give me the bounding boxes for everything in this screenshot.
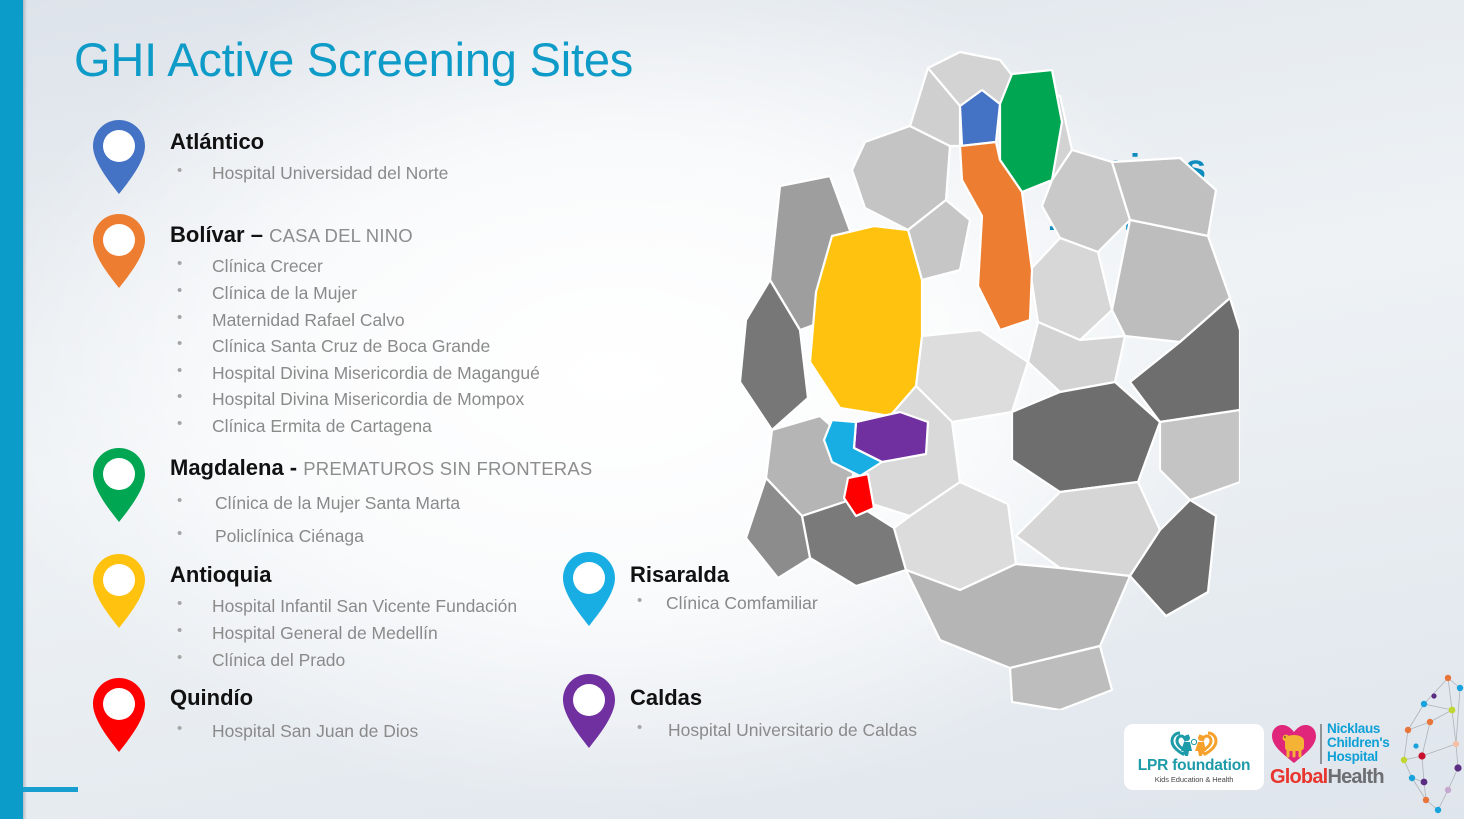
site-name: Hospital Divina Misericordia de Mompox (212, 389, 524, 409)
list-item: •Clínica de la Mujer Santa Marta (170, 490, 592, 517)
bottom-accent-line (23, 787, 78, 792)
page-title: GHI Active Screening Sites (74, 32, 633, 87)
site-name: Hospital General de Medellín (212, 623, 438, 643)
region-title-bolivar: Bolívar – CASA DEL NINO (170, 222, 540, 248)
list-item: •Clínica Comfamiliar (630, 590, 818, 617)
site-name: Hospital San Juan de Dios (212, 721, 418, 741)
region-title-caldas: Caldas (630, 685, 917, 711)
map-dept-arauca (1112, 158, 1216, 236)
region-title-risaralda: Risaralda (630, 562, 818, 588)
map-pin-icon-risaralda (558, 550, 620, 628)
list-item: •Clínica Santa Cruz de Boca Grande (170, 333, 540, 360)
map-dept-guainia (1160, 410, 1240, 500)
site-name: Clínica del Prado (212, 650, 345, 670)
list-item: •Clínica Ermita de Cartagena (170, 413, 540, 440)
site-name: Hospital Infantil San Vicente Fundación (212, 596, 517, 616)
bullet-icon: • (177, 620, 182, 643)
bullet-icon: • (177, 386, 182, 409)
map-pin-icon-bolivar (88, 212, 150, 290)
list-item: •Hospital Divina Misericordia de Magangu… (170, 360, 540, 387)
site-list-atlantico: •Hospital Universidad del Norte (170, 160, 448, 187)
site-name: Hospital Universitario de Caldas (668, 720, 917, 740)
list-item: •Hospital San Juan de Dios (170, 718, 418, 745)
list-item: •Hospital Divina Misericordia de Mompox (170, 386, 540, 413)
nch-line2: Children's (1327, 736, 1389, 750)
map-pin-icon-caldas (558, 672, 620, 750)
list-item: •Hospital General de Medellín (170, 620, 517, 647)
region-subtitle: CASA DEL NINO (269, 225, 413, 246)
bullet-icon: • (177, 160, 182, 183)
bullet-icon: • (177, 718, 182, 741)
region-title-atlantico: Atlántico (170, 129, 448, 155)
bullet-icon: • (177, 647, 182, 670)
logo-lpr-foundation: LPR foundation Kids Education & Health (1124, 724, 1264, 790)
bullet-icon: • (177, 523, 182, 546)
bullet-icon: • (177, 307, 182, 330)
map-highlight-antioquia (810, 226, 922, 416)
map-pin-icon-antioquia (88, 552, 150, 630)
network-graphic-svg (1382, 660, 1464, 819)
region-title-quindio: Quindío (170, 685, 418, 711)
list-item: •Hospital Infantil San Vicente Fundación (170, 593, 517, 620)
nch-line3: Hospital (1327, 750, 1389, 764)
bullet-icon: • (177, 413, 182, 436)
bullet-icon: • (177, 253, 182, 276)
bullet-icon: • (637, 590, 642, 613)
site-list-antioquia: •Hospital Infantil San Vicente Fundación… (170, 593, 517, 673)
nch-health-text: Health (1327, 766, 1383, 788)
site-name: Clínica Ermita de Cartagena (212, 416, 432, 436)
list-item: •Clínica de la Mujer (170, 280, 540, 307)
left-accent-bar-shadow (23, 0, 27, 819)
site-name: Hospital Divina Misericordia de Magangué (212, 363, 540, 383)
nch-divider (1320, 724, 1322, 764)
region-name: Caldas (630, 685, 702, 710)
map-pin-icon-atlantico (88, 118, 150, 196)
region-subtitle: PREMATUROS SIN FRONTERAS (303, 458, 592, 479)
list-item: •Maternidad Rafael Calvo (170, 307, 540, 334)
bullet-icon: • (177, 333, 182, 356)
region-name: Magdalena - (170, 455, 297, 480)
nch-line1: Nicklaus (1327, 722, 1389, 736)
region-name: Atlántico (170, 129, 264, 154)
lpr-mark-icon (1168, 730, 1220, 756)
bullet-icon: • (177, 280, 182, 303)
site-name: Clínica Santa Cruz de Boca Grande (212, 336, 490, 356)
site-list-bolivar: •Clínica Crecer •Clínica de la Mujer •Ma… (170, 253, 540, 439)
site-list-magdalena: •Clínica de la Mujer Santa Marta •Policl… (170, 490, 592, 549)
nch-global-text: Global (1270, 766, 1327, 788)
heart-bear-icon (1270, 723, 1318, 765)
site-name: Hospital Universidad del Norte (212, 163, 448, 183)
site-list-caldas: •Hospital Universitario de Caldas (630, 717, 917, 744)
list-item: •Clínica del Prado (170, 647, 517, 674)
map-dept-meta (1012, 382, 1160, 492)
list-item: •Clínica Crecer (170, 253, 540, 280)
region-title-magdalena: Magdalena - PREMATUROS SIN FRONTERAS (170, 455, 592, 481)
lpr-tagline: Kids Education & Health (1155, 775, 1234, 784)
bullet-icon: • (637, 717, 642, 740)
network-graphic (1382, 660, 1464, 819)
site-name: Clínica de la Mujer (212, 283, 357, 303)
lpr-name: LPR foundation (1138, 757, 1251, 775)
bullet-icon: • (177, 490, 182, 513)
site-name: Clínica de la Mujer Santa Marta (215, 493, 460, 513)
region-name: Antioquia (170, 562, 271, 587)
site-name: Maternidad Rafael Calvo (212, 310, 405, 330)
bullet-icon: • (177, 360, 182, 383)
list-item: •Hospital Universitario de Caldas (630, 717, 917, 744)
list-item: •Hospital Universidad del Norte (170, 160, 448, 187)
map-pin-icon-quindio (88, 676, 150, 754)
region-title-antioquia: Antioquia (170, 562, 517, 588)
region-name: Bolívar – (170, 222, 263, 247)
site-list-quindio: •Hospital San Juan de Dios (170, 718, 418, 745)
nch-wordmark: Nicklaus Children's Hospital (1327, 722, 1389, 764)
slide-canvas: GHI Active Screening Sites 7 Regions 16 … (0, 0, 1464, 819)
left-accent-bar (0, 0, 23, 819)
region-name: Quindío (170, 685, 253, 710)
region-name: Risaralda (630, 562, 729, 587)
site-name: Policlínica Ciénaga (215, 526, 364, 546)
site-list-risaralda: •Clínica Comfamiliar (630, 590, 818, 617)
site-name: Clínica Crecer (212, 256, 323, 276)
list-item: •Policlínica Ciénaga (170, 523, 592, 550)
bullet-icon: • (177, 593, 182, 616)
map-pin-icon-magdalena (88, 446, 150, 524)
site-name: Clínica Comfamiliar (666, 593, 818, 613)
